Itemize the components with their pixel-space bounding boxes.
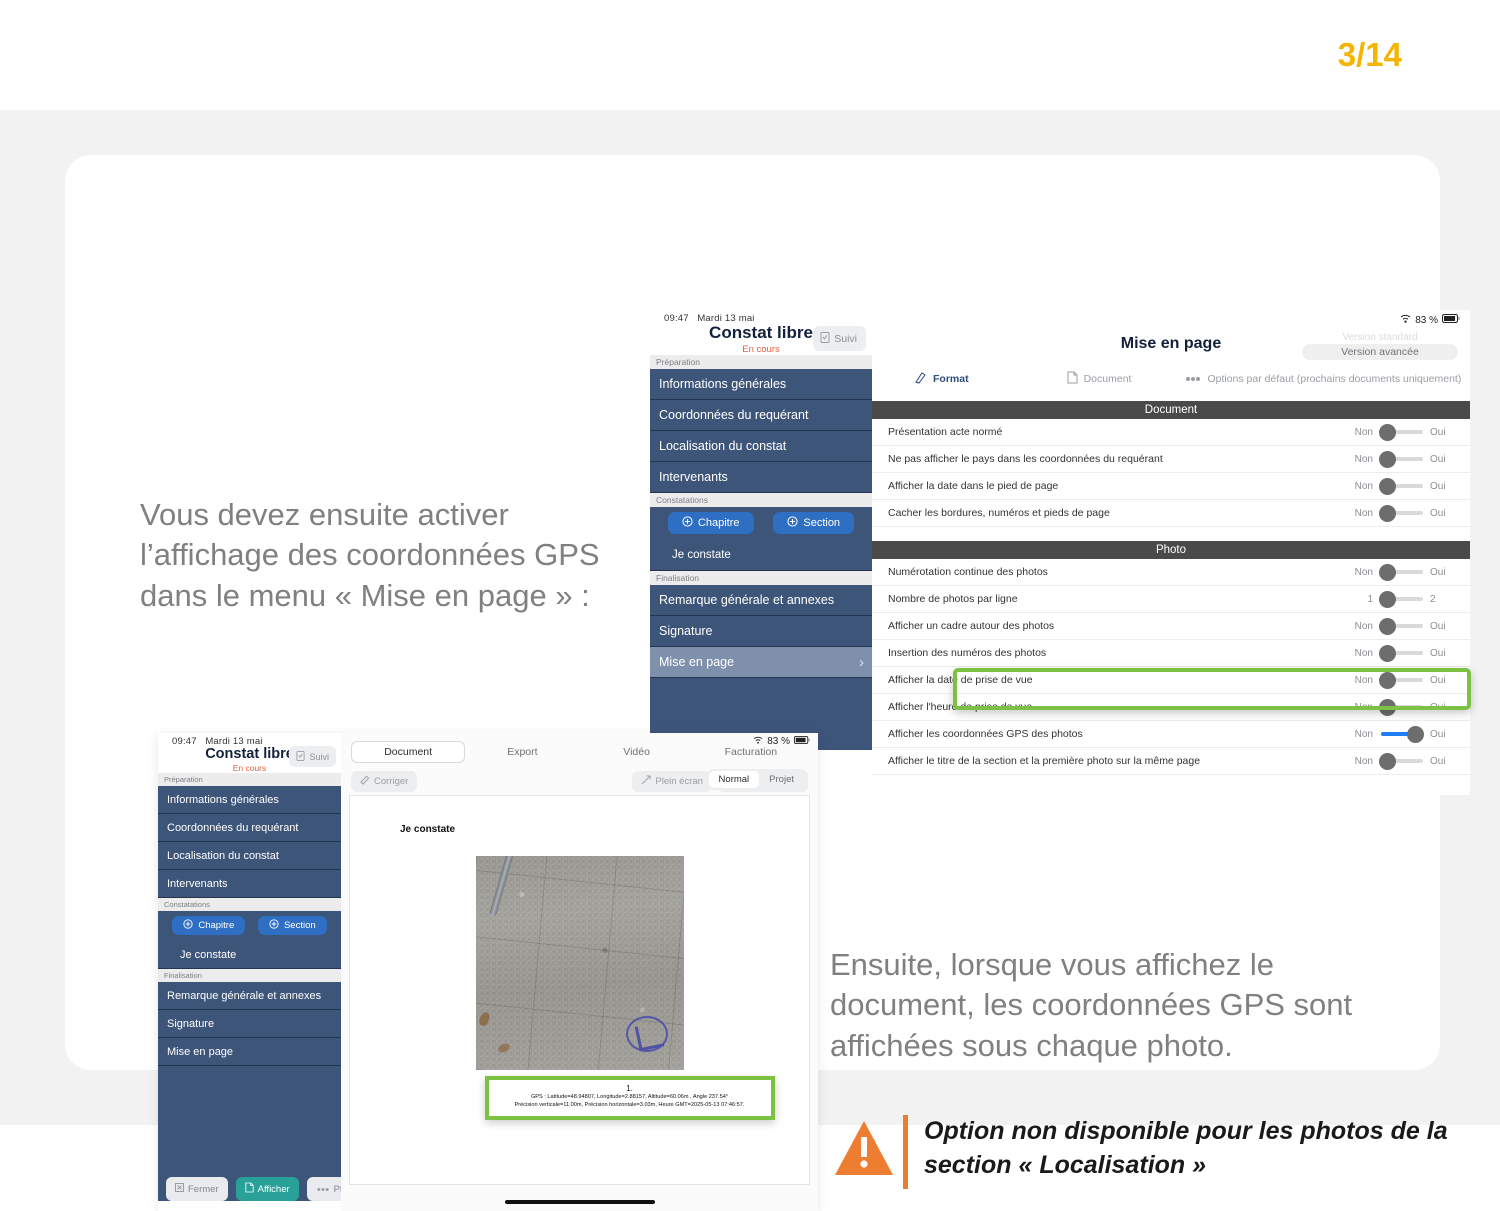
toggle-track[interactable] xyxy=(1381,484,1423,488)
photo-block: 1. GPS : Latitude=48.94807, Longitude=2.… xyxy=(476,856,684,1070)
toggle[interactable]: Non Oui xyxy=(1347,648,1456,659)
toggle[interactable]: Non Oui xyxy=(1347,508,1456,519)
clipboard-icon xyxy=(820,331,830,346)
toggle-track[interactable] xyxy=(1381,511,1423,515)
page-number: 3/14 xyxy=(1338,36,1402,74)
toggle-track[interactable] xyxy=(1381,597,1423,601)
row-label: Afficher le titre de la section et la pr… xyxy=(888,755,1347,767)
toggle-right-label: Oui xyxy=(1430,729,1456,740)
toggle-left-label: Non xyxy=(1347,481,1373,492)
chip-section-label: Section xyxy=(284,920,316,931)
group-constatations-label: Constatations xyxy=(650,493,872,507)
toggle-right-label: Oui xyxy=(1430,675,1456,686)
toggle-left-label: Non xyxy=(1347,675,1373,686)
toggle-track[interactable] xyxy=(1381,705,1423,709)
toggle-left-label: Non xyxy=(1347,648,1373,659)
toggle-track[interactable] xyxy=(1381,678,1423,682)
sidebar-item-label: Mise en page xyxy=(659,655,734,669)
group-preparation-label: Préparation xyxy=(650,355,872,369)
add-section-button[interactable]: Section xyxy=(258,916,327,935)
toggle-knob xyxy=(1379,753,1396,770)
suivi-label: Suivi xyxy=(309,752,329,762)
graffiti-marking xyxy=(626,1016,668,1052)
dots-icon xyxy=(1185,373,1201,385)
toggle-left-label: Non xyxy=(1347,454,1373,465)
gps-line-2: Précision verticale=11.00m, Précision ho… xyxy=(495,1101,765,1109)
sidebar-item-coordonnees-requerant[interactable]: Coordonnées du requérant xyxy=(158,814,341,842)
table-row[interactable]: Cacher les bordures, numéros et pieds de… xyxy=(872,500,1470,527)
row-label: Présentation acte normé xyxy=(888,426,1347,438)
toggle[interactable]: 1 2 xyxy=(1347,594,1456,605)
caption-right: Ensuite, lorsque vous affichez le docume… xyxy=(830,945,1360,1066)
pipe-object xyxy=(489,856,513,916)
sidebar-item-remarque-generale[interactable]: Remarque générale et annexes xyxy=(158,982,341,1010)
content-card: Vous devez ensuite activer l’affichage d… xyxy=(65,155,1440,1070)
page-title: GEOLOCALISATION & PHOTOS xyxy=(380,27,1120,83)
caption-left: Vous devez ensuite activer l’affichage d… xyxy=(140,495,650,616)
battery-percent: 83 % xyxy=(1415,315,1438,326)
row-label: Cacher les bordures, numéros et pieds de… xyxy=(888,507,1347,519)
group-finalisation-label: Finalisation xyxy=(650,571,872,585)
segment-format[interactable]: Format xyxy=(914,371,969,387)
toggle-knob xyxy=(1379,424,1396,441)
row-label: Afficher l'heure de prise de vue xyxy=(888,701,1347,713)
sidebar-item-je-constate[interactable]: Je constate xyxy=(158,941,341,969)
toggle-left-label: Non xyxy=(1347,427,1373,438)
constatations-actions: Chapitre Section xyxy=(650,507,872,540)
toggle-track[interactable] xyxy=(1381,570,1423,574)
corriger-button[interactable]: Corriger xyxy=(351,771,417,792)
battery-icon xyxy=(794,736,810,747)
toggle-knob xyxy=(1407,726,1424,743)
plus-circle-icon xyxy=(269,919,279,932)
toggle-right-label: Oui xyxy=(1430,621,1456,632)
toggle-track[interactable] xyxy=(1381,624,1423,628)
sidebar-item-signature[interactable]: Signature xyxy=(650,616,872,647)
battery-icon xyxy=(1442,314,1460,326)
status-time: 09:47 xyxy=(664,313,689,324)
document-icon xyxy=(1067,371,1078,387)
toggle[interactable]: Non Oui xyxy=(1347,454,1456,465)
suivi-label: Suivi xyxy=(834,333,857,345)
table-row-gps[interactable]: Afficher les coordonnées GPS des photos … xyxy=(872,721,1470,748)
status-bar-right: 83 % xyxy=(753,736,810,747)
toggle-knob xyxy=(1379,505,1396,522)
document-rows: Présentation acte normé Non Oui Ne pas a… xyxy=(872,419,1470,527)
constat-photo xyxy=(476,856,684,1070)
toggle-right-label: Oui xyxy=(1430,508,1456,519)
chip-section-label: Section xyxy=(803,517,840,529)
sidebar-item-remarque-generale[interactable]: Remarque générale et annexes xyxy=(650,585,872,616)
sidebar-item-mise-en-page[interactable]: Mise en page › xyxy=(650,647,872,678)
toggle[interactable]: Non Oui xyxy=(1347,481,1456,492)
version-avancee-option[interactable]: Version avancée xyxy=(1302,344,1458,360)
table-row[interactable]: Afficher l'heure de prise de vue Non Oui xyxy=(872,694,1470,721)
group-finalisation-label: Finalisation xyxy=(158,969,341,982)
wifi-icon xyxy=(753,736,763,747)
row-label: Afficher la date de prise de vue xyxy=(888,674,1347,686)
sidebar-item-signature[interactable]: Signature xyxy=(158,1010,341,1038)
chip-chapitre-label: Chapitre xyxy=(198,920,234,931)
expand-icon xyxy=(641,775,651,788)
table-row[interactable]: Numérotation continue des photos Non Oui xyxy=(872,559,1470,586)
wifi-icon xyxy=(1400,314,1411,326)
row-label: Insertion des numéros des photos xyxy=(888,647,1347,659)
format-icon xyxy=(914,371,927,387)
warning-note: Option non disponible pour les photos de… xyxy=(833,1115,1484,1189)
gps-line-1: GPS : Latitude=48.94807, Longitude=2.881… xyxy=(495,1093,765,1101)
fermer-button[interactable]: Fermer xyxy=(166,1177,228,1201)
button-label: Fermer xyxy=(188,1184,219,1195)
group-constatations-label: Constatations xyxy=(158,898,341,911)
toggle-right-label: Oui xyxy=(1430,427,1456,438)
table-row[interactable]: Afficher un cadre autour des photos Non … xyxy=(872,613,1470,640)
button-label: Plein écran xyxy=(655,776,703,787)
table-row[interactable]: Insertion des numéros des photos Non Oui xyxy=(872,640,1470,667)
table-row[interactable]: Afficher la date dans le pied de page No… xyxy=(872,473,1470,500)
table-row[interactable]: Ne pas afficher le pays dans les coordon… xyxy=(872,446,1470,473)
tab-export[interactable]: Export xyxy=(465,741,579,763)
toggle-track[interactable] xyxy=(1381,732,1423,736)
sidebar-item-mise-en-page[interactable]: Mise en page xyxy=(158,1038,341,1066)
document-section-title: Je constate xyxy=(350,796,809,835)
row-label: Numérotation continue des photos xyxy=(888,566,1347,578)
group-preparation-label: Préparation xyxy=(158,773,341,786)
toggle-right-label: Oui xyxy=(1430,481,1456,492)
sidebar-bottom-buttons: Fermer Afficher Plus xyxy=(166,1177,361,1201)
toggle-track[interactable] xyxy=(1381,430,1423,434)
table-row[interactable]: Afficher le titre de la section et la pr… xyxy=(872,748,1470,775)
toggle-knob xyxy=(1379,478,1396,495)
button-label: Afficher xyxy=(258,1184,290,1195)
toggle-left-label: Non xyxy=(1347,729,1373,740)
sidebar-item-je-constate[interactable]: Je constate xyxy=(650,540,872,571)
row-label: Afficher un cadre autour des photos xyxy=(888,620,1347,632)
dots-icon xyxy=(316,1184,330,1195)
screenshot-settings: 09:47 Mardi 13 mai Constat libre En cour… xyxy=(650,310,1470,795)
sidebar-item-localisation-constat[interactable]: Localisation du constat xyxy=(650,431,872,462)
slide-header: GEOLOCALISATION & PHOTOS 3/14 xyxy=(0,0,1500,110)
toggle-right-label: Oui xyxy=(1430,454,1456,465)
row-label: Nombre de photos par ligne xyxy=(888,593,1347,605)
close-box-icon xyxy=(175,1183,184,1195)
toggle-left-label: Non xyxy=(1347,508,1373,519)
segment-label: Document xyxy=(1084,373,1132,385)
toggle-knob xyxy=(1379,591,1396,608)
clipboard-icon xyxy=(296,750,305,763)
toggle[interactable]: Non Oui xyxy=(1347,621,1456,632)
toggle-knob xyxy=(1379,618,1396,635)
sidebar-item-informations-generales[interactable]: Informations générales xyxy=(158,786,341,814)
status-bar-left: 09:47 Mardi 13 mai xyxy=(158,733,341,747)
segment-label: Options par défaut (prochains documents … xyxy=(1207,373,1461,385)
toggle-left-label: Non xyxy=(1347,567,1373,578)
leaf-debris xyxy=(477,1011,490,1027)
toggle-right-label: Oui xyxy=(1430,756,1456,767)
leaf-debris xyxy=(496,1042,510,1054)
status-bar-right: 83 % xyxy=(1400,314,1460,326)
view-mode-normal[interactable]: Normal xyxy=(709,771,760,788)
segment-document[interactable]: Document xyxy=(1067,371,1132,387)
tab-document[interactable]: Document xyxy=(351,741,465,763)
document-icon xyxy=(245,1182,254,1196)
toggle-knob xyxy=(1379,564,1396,581)
warning-triangle-icon xyxy=(833,1119,895,1177)
add-section-button[interactable]: Section xyxy=(773,512,854,534)
button-label: Corriger xyxy=(374,776,408,787)
warning-accent-bar xyxy=(903,1115,908,1189)
toggle-knob xyxy=(1379,672,1396,689)
segment-label: Format xyxy=(933,373,969,385)
sidebar-item-intervenants[interactable]: Intervenants xyxy=(650,462,872,493)
section-header-photo: Photo xyxy=(872,541,1470,559)
home-indicator xyxy=(505,1200,655,1204)
table-row[interactable]: Nombre de photos par ligne 1 2 xyxy=(872,586,1470,613)
plus-circle-icon xyxy=(682,516,693,530)
constatations-actions: Chapitre Section xyxy=(158,911,341,941)
preview-panel: 83 % Document Export Vidéo Facturation xyxy=(341,733,818,1211)
shotB-sidebar: 09:47 Mardi 13 mai Constat libre En cour… xyxy=(158,733,341,1211)
table-row[interactable]: Présentation acte normé Non Oui xyxy=(872,419,1470,446)
afficher-button[interactable]: Afficher xyxy=(236,1177,299,1201)
tab-video[interactable]: Vidéo xyxy=(580,741,694,763)
settings-panel: 83 % Mise en page Version standard Versi… xyxy=(872,310,1470,795)
sidebar-item-intervenants[interactable]: Intervenants xyxy=(158,870,341,898)
battery-percent: 83 % xyxy=(767,736,790,747)
toggle-right-label: Oui xyxy=(1430,567,1456,578)
add-chapitre-button[interactable]: Chapitre xyxy=(668,512,754,534)
row-label: Ne pas afficher le pays dans les coordon… xyxy=(888,453,1347,465)
plus-circle-icon xyxy=(183,919,193,932)
toggle-right-label: Oui xyxy=(1430,648,1456,659)
toggle-knob xyxy=(1379,645,1396,662)
warning-text: Option non disponible pour les photos de… xyxy=(924,1115,1484,1183)
toggle[interactable]: Non Oui xyxy=(1347,567,1456,578)
toggle-right-label: 2 xyxy=(1430,594,1456,605)
toggle[interactable]: Non Oui xyxy=(1347,756,1456,767)
document-page: Je constate 1. GPS : Latitude=48.94807, … xyxy=(349,795,810,1185)
toggle-track[interactable] xyxy=(1381,759,1423,763)
toggle-left-label: 1 xyxy=(1347,594,1373,605)
chevron-right-icon: › xyxy=(859,654,864,671)
slide-body: Vous devez ensuite activer l’affichage d… xyxy=(0,110,1500,1125)
toggle-knob xyxy=(1379,451,1396,468)
toggle-left-label: Non xyxy=(1347,756,1373,767)
sidebar-item-coordonnees-requerant[interactable]: Coordonnées du requérant xyxy=(650,400,872,431)
sidebar-item-informations-generales[interactable]: Informations générales xyxy=(650,369,872,400)
toggle-left-label: Non xyxy=(1347,702,1373,713)
row-label: Afficher la date dans le pied de page xyxy=(888,480,1347,492)
edit-icon xyxy=(360,775,370,788)
version-switch[interactable]: Version standard Version avancée xyxy=(1302,332,1458,360)
toggle[interactable]: Non Oui xyxy=(1347,702,1456,713)
toggle-track[interactable] xyxy=(1381,457,1423,461)
segment-options-defaut[interactable]: Options par défaut (prochains documents … xyxy=(1185,373,1461,385)
row-label: Afficher les coordonnées GPS des photos xyxy=(888,728,1347,740)
add-chapitre-button[interactable]: Chapitre xyxy=(172,916,245,935)
toggle-gps[interactable]: Non Oui xyxy=(1347,729,1456,740)
table-row[interactable]: Afficher la date de prise de vue Non Oui xyxy=(872,667,1470,694)
version-standard-option[interactable]: Version standard xyxy=(1302,332,1458,343)
shotA-sidebar: 09:47 Mardi 13 mai Constat libre En cour… xyxy=(650,310,872,795)
sidebar-item-localisation-constat[interactable]: Localisation du constat xyxy=(158,842,341,870)
plein-ecran-button[interactable]: Plein écran xyxy=(632,771,712,792)
chip-chapitre-label: Chapitre xyxy=(698,517,740,529)
toggle[interactable]: Non Oui xyxy=(1347,427,1456,438)
screenshot-document-preview: 09:47 Mardi 13 mai Constat libre En cour… xyxy=(158,733,818,1211)
toggle-right-label: Oui xyxy=(1430,702,1456,713)
gps-caption-highlight: 1. GPS : Latitude=48.94807, Longitude=2.… xyxy=(485,1076,775,1120)
toggle-knob xyxy=(1379,699,1396,716)
suivi-button[interactable]: Suivi xyxy=(289,746,336,767)
toggle-track[interactable] xyxy=(1381,651,1423,655)
status-time: 09:47 xyxy=(172,736,197,747)
view-mode-switch[interactable]: Normal Projet xyxy=(707,769,806,790)
photo-rows: Numérotation continue des photos Non Oui… xyxy=(872,559,1470,775)
section-header-document: Document xyxy=(872,401,1470,419)
view-mode-projet[interactable]: Projet xyxy=(759,771,804,788)
plus-circle-icon xyxy=(787,516,798,530)
toggle-left-label: Non xyxy=(1347,621,1373,632)
photo-number: 1. xyxy=(495,1084,765,1093)
suivi-button[interactable]: Suivi xyxy=(813,326,866,351)
toggle[interactable]: Non Oui xyxy=(1347,675,1456,686)
status-bar-left: 09:47 Mardi 13 mai xyxy=(650,310,872,324)
preview-tabs: Document Export Vidéo Facturation xyxy=(341,733,818,763)
